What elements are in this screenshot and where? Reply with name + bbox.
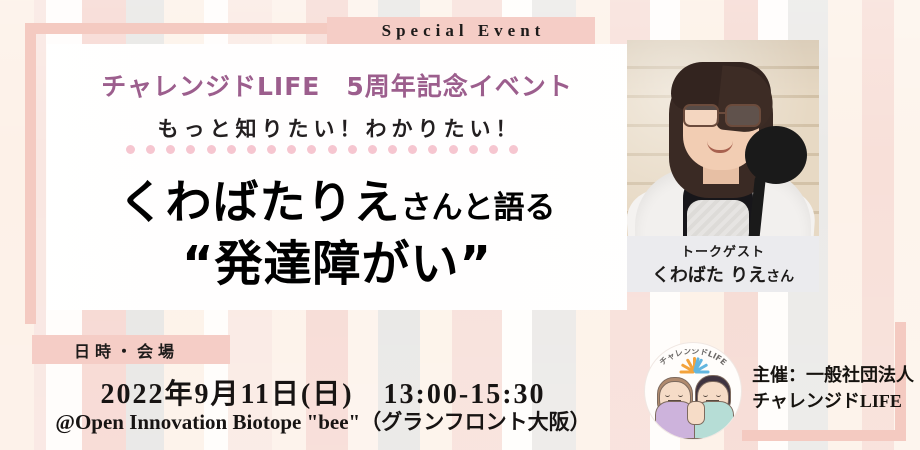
underline-dot bbox=[428, 145, 437, 154]
underline-dot bbox=[186, 145, 195, 154]
event-venue: @Open Innovation Biotope "bee"（グランフロント大阪… bbox=[26, 406, 620, 436]
logo-joined-hands bbox=[687, 401, 705, 425]
guest-name-label: くわばた りえさん bbox=[652, 261, 794, 287]
underline-dot bbox=[408, 145, 417, 154]
event-subtitle: もっと知りたい！わかりたい！ bbox=[47, 113, 627, 143]
underline-dot bbox=[247, 145, 256, 154]
underline-dot bbox=[368, 145, 377, 154]
underline-dot bbox=[469, 145, 478, 154]
organizer-text: 主催：一般社団法人 チャレンジドLIFE bbox=[752, 362, 902, 414]
glasses-icon bbox=[683, 104, 761, 123]
underline-dot bbox=[348, 145, 357, 154]
underline-dot bbox=[146, 145, 155, 154]
underline-dot bbox=[328, 145, 337, 154]
anniversary-title: チャレンジドLIFE 5周年記念イベント bbox=[47, 67, 627, 103]
organizer-logo-icon: チャレンジドLIFE bbox=[644, 342, 742, 440]
dot-underline bbox=[126, 144, 518, 154]
guest-caption: トークゲスト くわばた りえさん bbox=[627, 236, 819, 292]
underline-dot bbox=[227, 145, 236, 154]
ladle-icon bbox=[745, 126, 807, 184]
headline-guest-suffix: さんと語る bbox=[401, 190, 556, 226]
underline-dot bbox=[287, 145, 296, 154]
headline-secondary: “発達障がい” bbox=[47, 224, 627, 294]
guest-name-suffix: さん bbox=[766, 269, 794, 285]
headline-primary: くわばたりえさんと語る bbox=[47, 166, 627, 232]
underline-dot bbox=[166, 145, 175, 154]
guest-photo-card: トークゲスト くわばた りえさん bbox=[627, 40, 819, 292]
underline-dot bbox=[207, 145, 216, 154]
guest-role-label: トークゲスト bbox=[681, 241, 765, 260]
organizer-line-2: チャレンジドLIFE bbox=[752, 388, 902, 414]
event-banner: Special Event チャレンジドLIFE 5周年記念イベント もっと知り… bbox=[0, 0, 920, 450]
underline-dot bbox=[388, 145, 397, 154]
headline-guest-name: くわばたりえ bbox=[119, 175, 401, 229]
underline-dot bbox=[307, 145, 316, 154]
organizer-line-1: 主催：一般社団法人 bbox=[752, 362, 902, 388]
underline-dot bbox=[489, 145, 498, 154]
schedule-section-label: 日時・会場 bbox=[32, 335, 230, 364]
underline-dot bbox=[126, 145, 135, 154]
special-event-ribbon: Special Event bbox=[327, 17, 595, 44]
underline-dot bbox=[509, 145, 518, 154]
schedule-section-text: 日時・会場 bbox=[32, 338, 179, 362]
underline-dot bbox=[267, 145, 276, 154]
special-event-label: Special Event bbox=[377, 21, 546, 41]
underline-dot bbox=[449, 145, 458, 154]
guest-name-text: くわばた りえ bbox=[652, 265, 766, 286]
